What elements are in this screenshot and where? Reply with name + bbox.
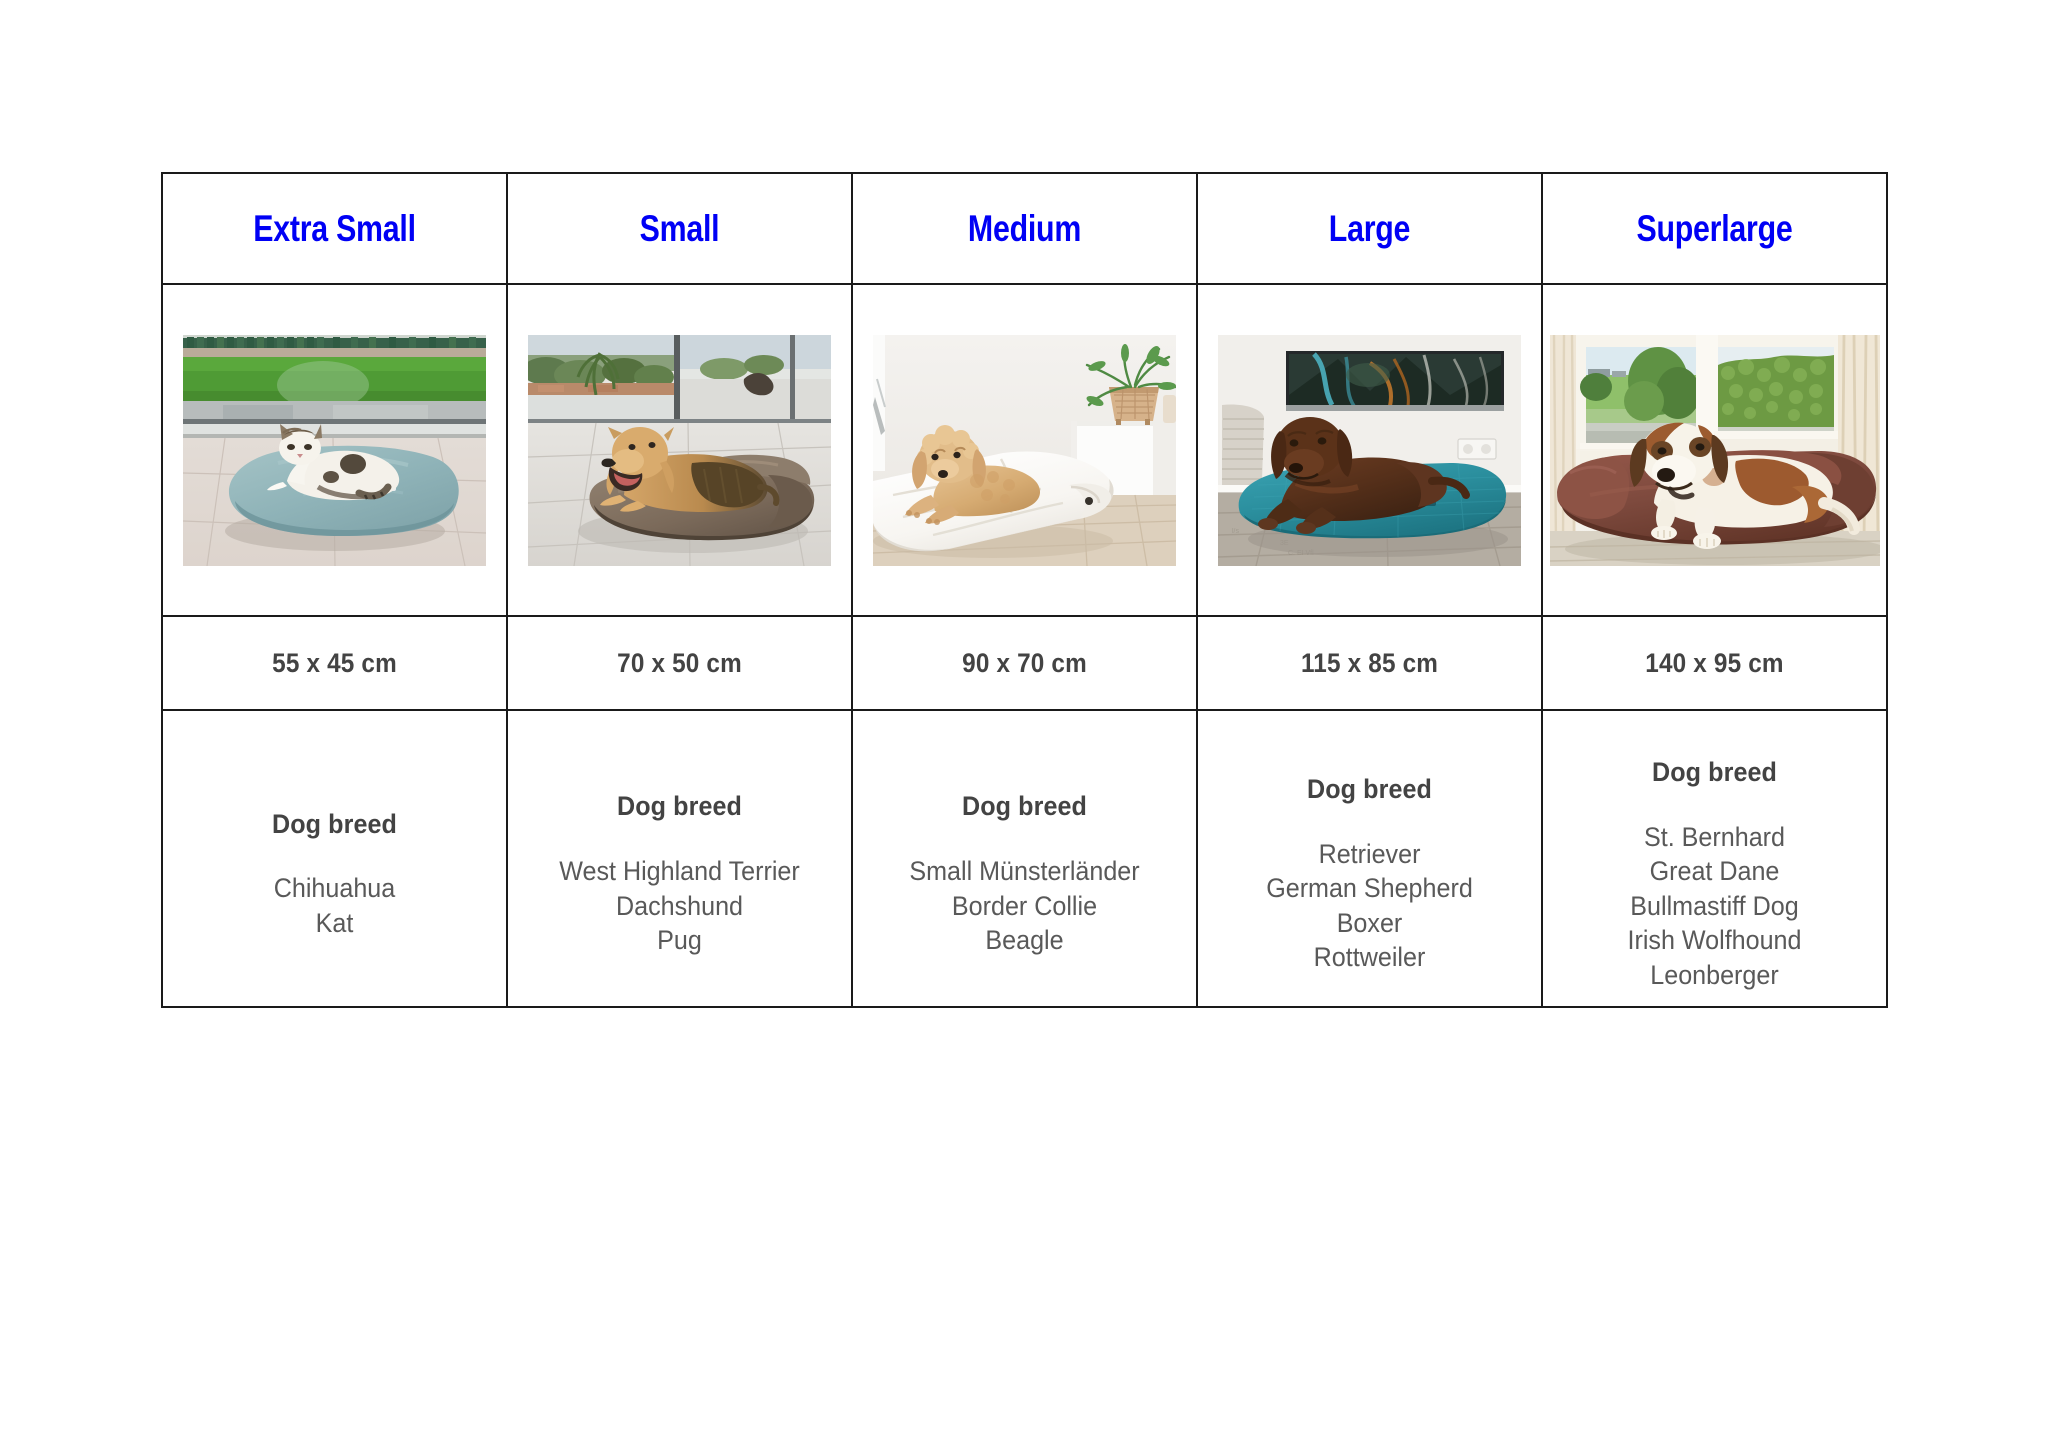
cell-dimensions-small: 70 x 50 cm bbox=[507, 616, 852, 710]
breed-item: Chihuahua bbox=[175, 871, 494, 906]
category-title-large: Large bbox=[1229, 210, 1510, 247]
cell-photo-medium bbox=[852, 284, 1197, 616]
breed-item: Boxer bbox=[1210, 906, 1529, 941]
breed-block-superlarge: Dog breed St. BernhardGreat DaneBullmast… bbox=[1543, 725, 1886, 993]
photo-saint-bernard-on-brown-dog-sofa bbox=[1550, 335, 1880, 566]
cell-photo-extra-small bbox=[162, 284, 507, 616]
cell-dimensions-large: 115 x 85 cm bbox=[1197, 616, 1542, 710]
dimensions-medium: 90 x 70 cm bbox=[870, 648, 1179, 679]
cell-category-large: Large bbox=[1197, 173, 1542, 284]
category-title-extra-small: Extra Small bbox=[194, 210, 475, 247]
breed-block-large: Dog breed RetrieverGerman ShepherdBoxerR… bbox=[1198, 742, 1541, 975]
breed-item: Pug bbox=[520, 923, 839, 958]
cell-category-small: Small bbox=[507, 173, 852, 284]
svg-text:l/s: l/s bbox=[1232, 528, 1240, 535]
dimensions-superlarge: 140 x 95 cm bbox=[1560, 648, 1869, 679]
dimensions-small: 70 x 50 cm bbox=[525, 648, 834, 679]
breed-item: Border Collie bbox=[865, 889, 1184, 924]
breed-list-large: RetrieverGerman ShepherdBoxerRottweiler bbox=[1198, 837, 1541, 975]
breed-item: West Highland Terrier bbox=[520, 854, 839, 889]
cell-category-extra-small: Extra Small bbox=[162, 173, 507, 284]
breed-item: St. Bernhard bbox=[1555, 820, 1874, 855]
table-row-photos: l/s 3E C. EI Vfl bbox=[162, 284, 1887, 616]
cell-breeds-medium: Dog breed Small MünsterländerBorder Coll… bbox=[852, 710, 1197, 1007]
breed-item: German Shepherd bbox=[1210, 871, 1529, 906]
breed-item: Dachshund bbox=[520, 889, 839, 924]
photo-cat-on-light-blue-dog-bed bbox=[183, 335, 486, 566]
cell-category-superlarge: Superlarge bbox=[1542, 173, 1887, 284]
category-title-medium: Medium bbox=[884, 210, 1165, 247]
photo-terrier-on-brown-leather-sofa-bed bbox=[528, 335, 831, 566]
breed-block-extra-small: Dog breed ChihuahuaKat bbox=[163, 777, 506, 941]
breed-item: Irish Wolfhound bbox=[1555, 923, 1874, 958]
dimensions-large: 115 x 85 cm bbox=[1215, 648, 1524, 679]
breed-item: Small Münsterländer bbox=[865, 854, 1184, 889]
photo-cockapoo-puppy-on-white-dog-bed bbox=[873, 335, 1176, 566]
breed-list-superlarge: St. BernhardGreat DaneBullmastiff DogIri… bbox=[1543, 820, 1886, 993]
dog-bed-size-table: Extra Small Small Medium Large Superlarg… bbox=[161, 172, 1888, 1008]
cell-breeds-small: Dog breed West Highland TerrierDachshund… bbox=[507, 710, 852, 1007]
cell-photo-large: l/s 3E C. EI Vfl bbox=[1197, 284, 1542, 616]
cell-breeds-extra-small: Dog breed ChihuahuaKat bbox=[162, 710, 507, 1007]
breed-block-medium: Dog breed Small MünsterländerBorder Coll… bbox=[853, 759, 1196, 958]
breed-item: Rottweiler bbox=[1210, 940, 1529, 975]
breed-item: Bullmastiff Dog bbox=[1555, 889, 1874, 924]
breed-item: Leonberger bbox=[1555, 958, 1874, 993]
table-row-dimensions: 55 x 45 cm 70 x 50 cm 90 x 70 cm 115 x 8… bbox=[162, 616, 1887, 710]
photo-chocolate-labrador-on-teal-dog-bed: l/s 3E C. EI Vfl bbox=[1218, 335, 1521, 566]
breed-item: Beagle bbox=[865, 923, 1184, 958]
breed-block-small: Dog breed West Highland TerrierDachshund… bbox=[508, 759, 851, 958]
category-title-superlarge: Superlarge bbox=[1574, 210, 1855, 247]
breed-heading-superlarge: Dog breed bbox=[1555, 758, 1874, 787]
breed-heading-extra-small: Dog breed bbox=[175, 810, 494, 839]
cell-dimensions-medium: 90 x 70 cm bbox=[852, 616, 1197, 710]
cell-dimensions-extra-small: 55 x 45 cm bbox=[162, 616, 507, 710]
cell-breeds-large: Dog breed RetrieverGerman ShepherdBoxerR… bbox=[1197, 710, 1542, 1007]
table-row-categories: Extra Small Small Medium Large Superlarg… bbox=[162, 173, 1887, 284]
breed-heading-medium: Dog breed bbox=[865, 792, 1184, 821]
breed-list-extra-small: ChihuahuaKat bbox=[163, 871, 506, 940]
category-title-small: Small bbox=[539, 210, 820, 247]
cell-category-medium: Medium bbox=[852, 173, 1197, 284]
breed-heading-large: Dog breed bbox=[1210, 775, 1529, 804]
cell-breeds-superlarge: Dog breed St. BernhardGreat DaneBullmast… bbox=[1542, 710, 1887, 1007]
breed-item: Kat bbox=[175, 906, 494, 941]
cell-photo-superlarge bbox=[1542, 284, 1887, 616]
breed-list-small: West Highland TerrierDachshundPug bbox=[508, 854, 851, 958]
breed-item: Great Dane bbox=[1555, 854, 1874, 889]
page-root: Extra Small Small Medium Large Superlarg… bbox=[0, 0, 2048, 1448]
breed-list-medium: Small MünsterländerBorder CollieBeagle bbox=[853, 854, 1196, 958]
cell-dimensions-superlarge: 140 x 95 cm bbox=[1542, 616, 1887, 710]
dimensions-extra-small: 55 x 45 cm bbox=[180, 648, 489, 679]
cell-photo-small bbox=[507, 284, 852, 616]
table-row-breeds: Dog breed ChihuahuaKat Dog breed West Hi… bbox=[162, 710, 1887, 1007]
breed-item: Retriever bbox=[1210, 837, 1529, 872]
breed-heading-small: Dog breed bbox=[520, 792, 839, 821]
